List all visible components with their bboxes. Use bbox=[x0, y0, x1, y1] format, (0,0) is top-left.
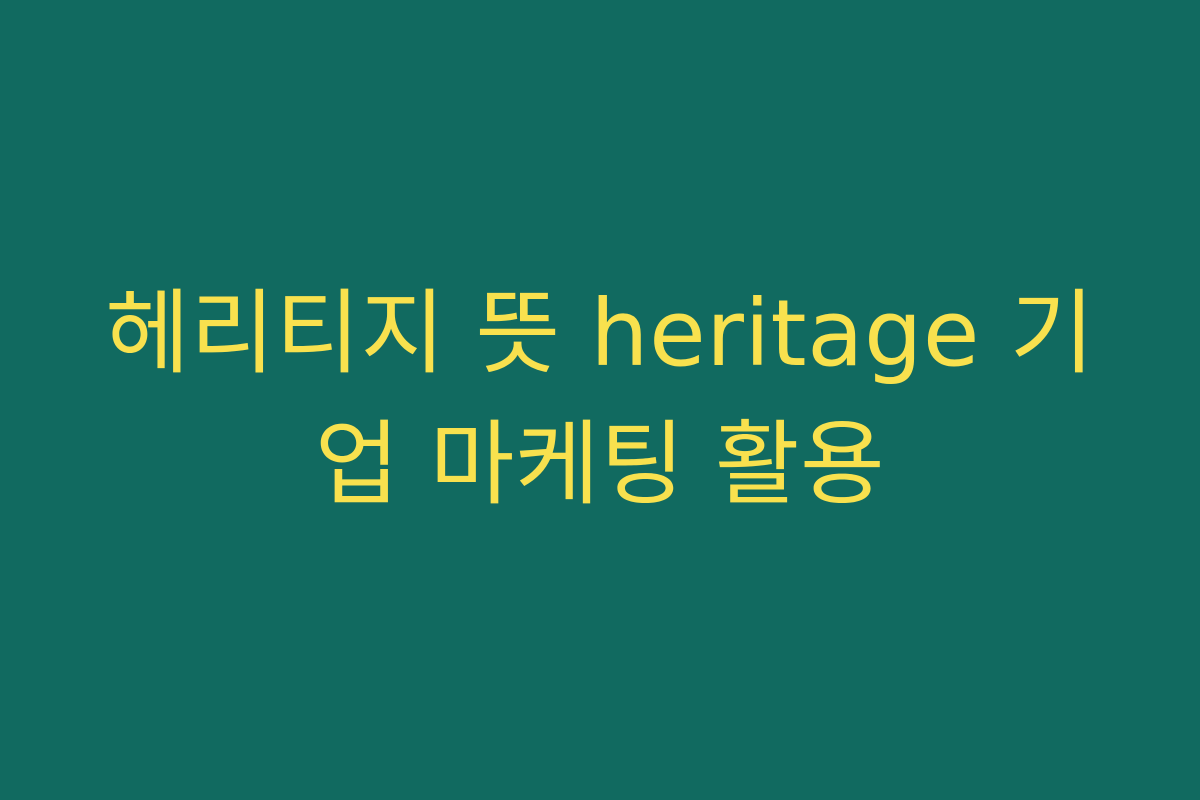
thumbnail-banner: 헤리티지 뜻 heritage 기 업 마케팅 활용 bbox=[0, 0, 1200, 800]
banner-headline-line-2: 업 마케팅 활용 bbox=[40, 400, 1160, 531]
banner-headline-line-1: 헤리티지 뜻 heritage 기 bbox=[40, 269, 1160, 400]
banner-headline: 헤리티지 뜻 heritage 기 업 마케팅 활용 bbox=[0, 269, 1200, 530]
